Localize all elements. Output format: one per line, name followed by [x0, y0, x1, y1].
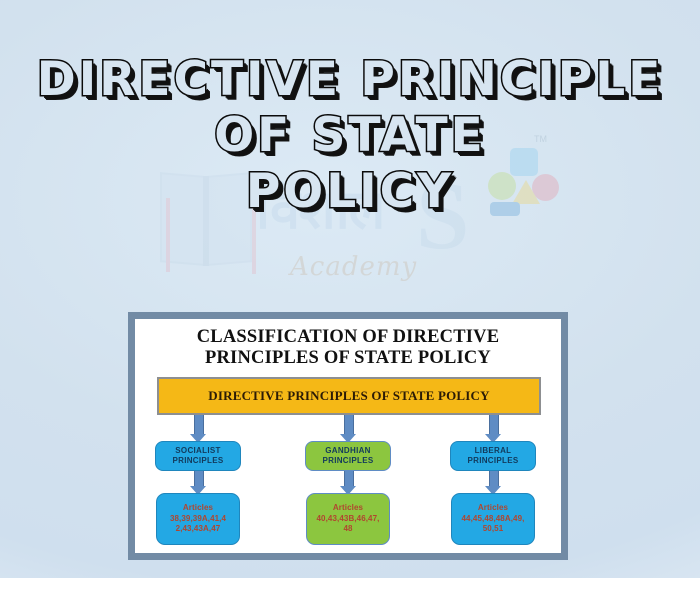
articles-liberal-line-1: 44,45,48,48A,49, [462, 514, 525, 523]
articles-socialist-line-2: 2,43,43A,47 [176, 524, 221, 533]
arrow-root-to-socialist [190, 415, 206, 443]
articles-liberal-line-2: 50,51 [483, 524, 504, 533]
articles-node-socialist: Articles 38,39,39A,41,4 2,43,43A,47 [156, 493, 240, 545]
articles-gandhian-line-1: 40,43,43B,46,47, [317, 514, 380, 523]
arrow-root-to-liberal [485, 415, 501, 443]
arrow-gandhian-to-articles [340, 471, 356, 495]
category-liberal-line-1: LIBERAL [475, 446, 512, 455]
diagram-title: CLASSIFICATION OF DIRECTIVE PRINCIPLES O… [135, 327, 561, 369]
root-node-label: DIRECTIVE PRINCIPLES OF STATE POLICY [208, 388, 489, 404]
category-node-gandhian: GANDHIAN PRINCIPLES [305, 441, 391, 471]
category-socialist-line-1: SOCIALIST [175, 446, 220, 455]
page-title-line-2: OF STATE [0, 108, 700, 164]
articles-gandhian-line-2: 48 [343, 524, 352, 533]
page-title: DIRECTIVE PRINCIPLE OF STATE POLICY [0, 52, 700, 220]
articles-node-socialist-label: Articles 38,39,39A,41,4 2,43,43A,47 [170, 503, 226, 535]
watermark-academy-text: Academy [290, 252, 417, 282]
category-node-socialist-label: SOCIALIST PRINCIPLES [172, 446, 223, 466]
page-title-line-3: POLICY [0, 164, 700, 220]
page-title-line-1: DIRECTIVE PRINCIPLE [0, 52, 700, 108]
slide-canvas: विशाल S Academy TM DIRECTIVE PRINCIPLE O… [0, 0, 700, 578]
arrow-root-to-gandhian [340, 415, 356, 443]
category-socialist-line-2: PRINCIPLES [172, 456, 223, 465]
arrow-socialist-to-articles [190, 471, 206, 495]
articles-node-liberal: Articles 44,45,48,48A,49, 50,51 [451, 493, 535, 545]
bottom-white-strip [0, 578, 700, 600]
diagram-title-line-1: CLASSIFICATION OF DIRECTIVE [135, 327, 561, 348]
articles-node-liberal-label: Articles 44,45,48,48A,49, 50,51 [462, 503, 525, 535]
root-node-directive-principles: DIRECTIVE PRINCIPLES OF STATE POLICY [157, 377, 541, 415]
classification-diagram: CLASSIFICATION OF DIRECTIVE PRINCIPLES O… [128, 312, 568, 560]
diagram-title-line-2: PRINCIPLES OF STATE POLICY [135, 348, 561, 369]
articles-socialist-line-1: 38,39,39A,41,4 [170, 514, 226, 523]
category-node-liberal: LIBERAL PRINCIPLES [450, 441, 536, 471]
arrow-liberal-to-articles [485, 471, 501, 495]
category-node-gandhian-label: GANDHIAN PRINCIPLES [322, 446, 373, 466]
articles-socialist-heading: Articles [183, 503, 213, 512]
category-node-socialist: SOCIALIST PRINCIPLES [155, 441, 241, 471]
articles-node-gandhian: Articles 40,43,43B,46,47, 48 [306, 493, 390, 545]
category-gandhian-line-2: PRINCIPLES [322, 456, 373, 465]
category-gandhian-line-1: GANDHIAN [325, 446, 371, 455]
articles-gandhian-heading: Articles [333, 503, 363, 512]
category-liberal-line-2: PRINCIPLES [467, 456, 518, 465]
articles-node-gandhian-label: Articles 40,43,43B,46,47, 48 [317, 503, 380, 535]
articles-liberal-heading: Articles [478, 503, 508, 512]
category-node-liberal-label: LIBERAL PRINCIPLES [467, 446, 518, 466]
